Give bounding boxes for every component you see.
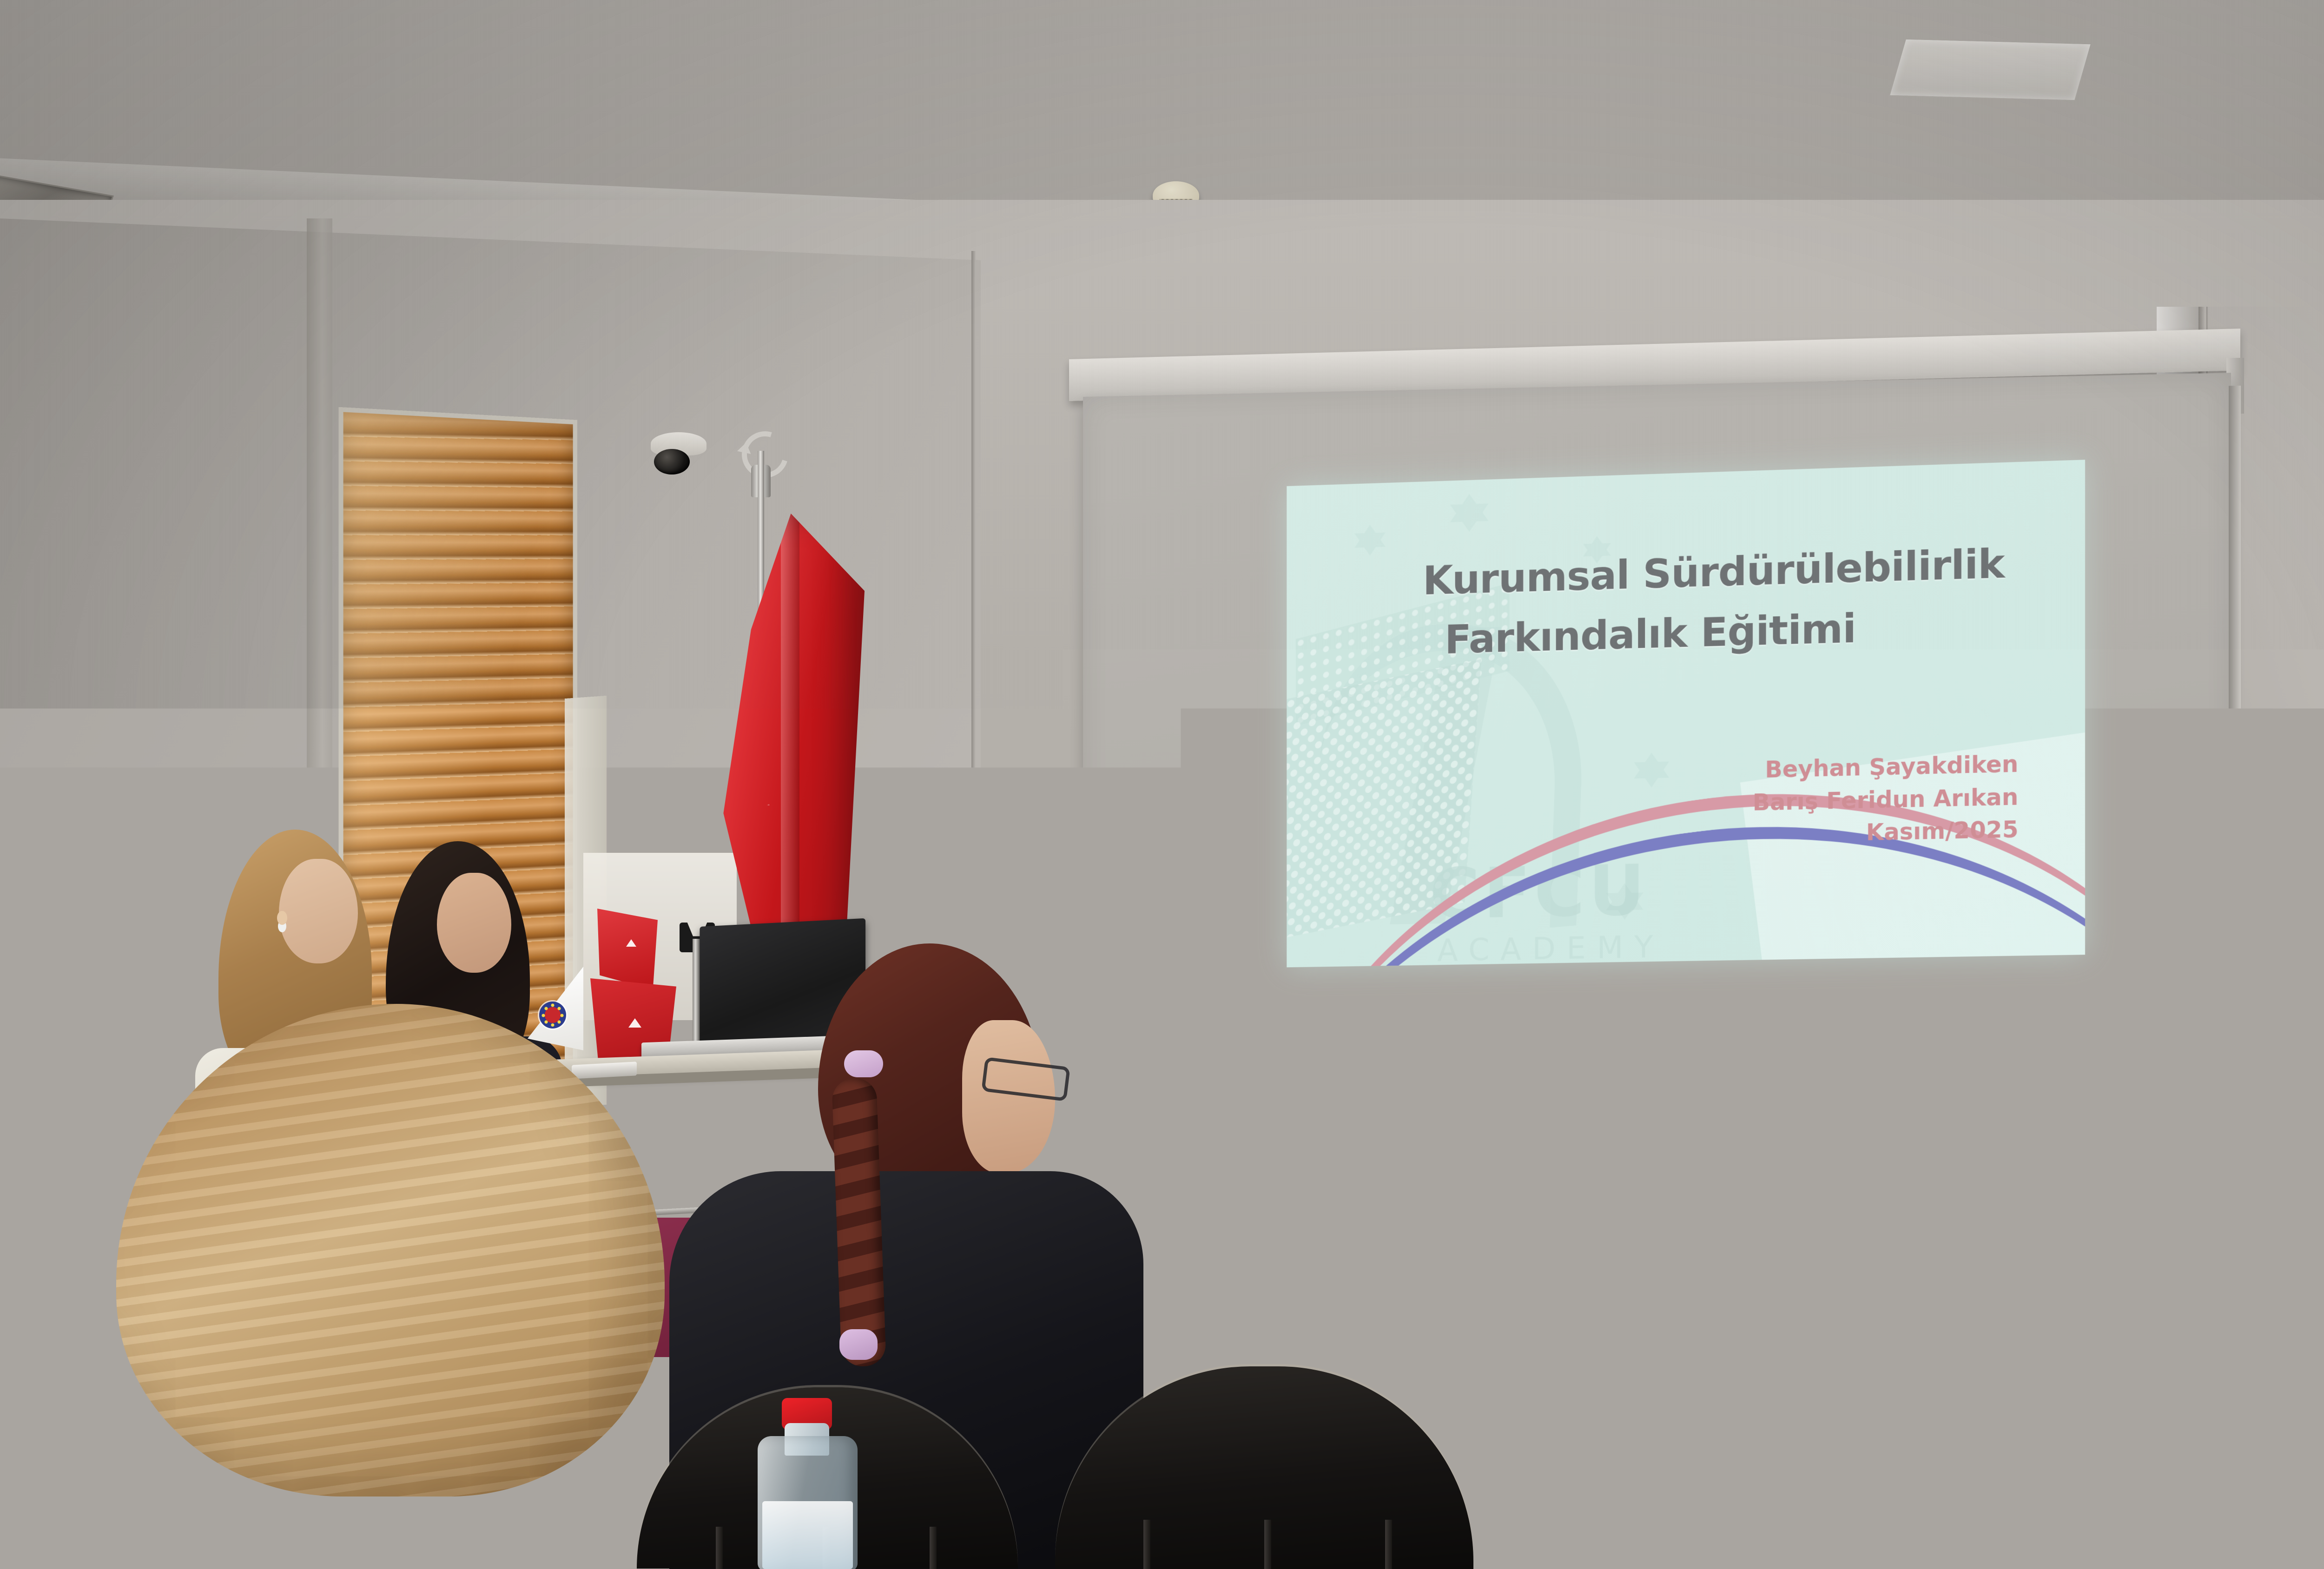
security-camera-icon bbox=[651, 432, 706, 472]
seated-woman-1-earring-icon bbox=[277, 911, 287, 925]
water-bottle-label bbox=[762, 1501, 853, 1569]
conference-room-scene: CFCU ACADEMY Kurumsal Sürdürülebilirlik … bbox=[0, 0, 2324, 1569]
slide-title-line1: Kurumsal Sürdürülebilirlik bbox=[1423, 541, 2004, 604]
seated-woman-2-face bbox=[437, 873, 511, 973]
slide-authors: Beyhan Şayakdiken Barış Feridun Arıkan K… bbox=[1643, 748, 2018, 853]
document-text-lines bbox=[1457, 1301, 1680, 1343]
document-logo-icon bbox=[1452, 1320, 1473, 1336]
projected-slide: CFCU ACADEMY Kurumsal Sürdürülebilirlik … bbox=[1287, 460, 2085, 967]
seated-woman-1-face bbox=[279, 859, 358, 963]
foreground-person-blue-top bbox=[28, 1445, 772, 1569]
wooden-desk-front bbox=[2312, 1058, 2324, 1247]
projector-vent-icon bbox=[1150, 1184, 1211, 1212]
slide-title: Kurumsal Sürdürülebilirlik Farkındalık E… bbox=[1423, 533, 2042, 670]
ceiling-light-panel bbox=[1889, 39, 2092, 101]
desk-flag-emblem-icon bbox=[539, 1002, 566, 1028]
hair-scrunchie-icon bbox=[844, 1050, 883, 1077]
floor-gloss-reflection bbox=[2045, 1208, 2324, 1569]
hair-scrunchie-icon bbox=[839, 1329, 878, 1360]
projection-screen-edge bbox=[2229, 386, 2241, 1260]
